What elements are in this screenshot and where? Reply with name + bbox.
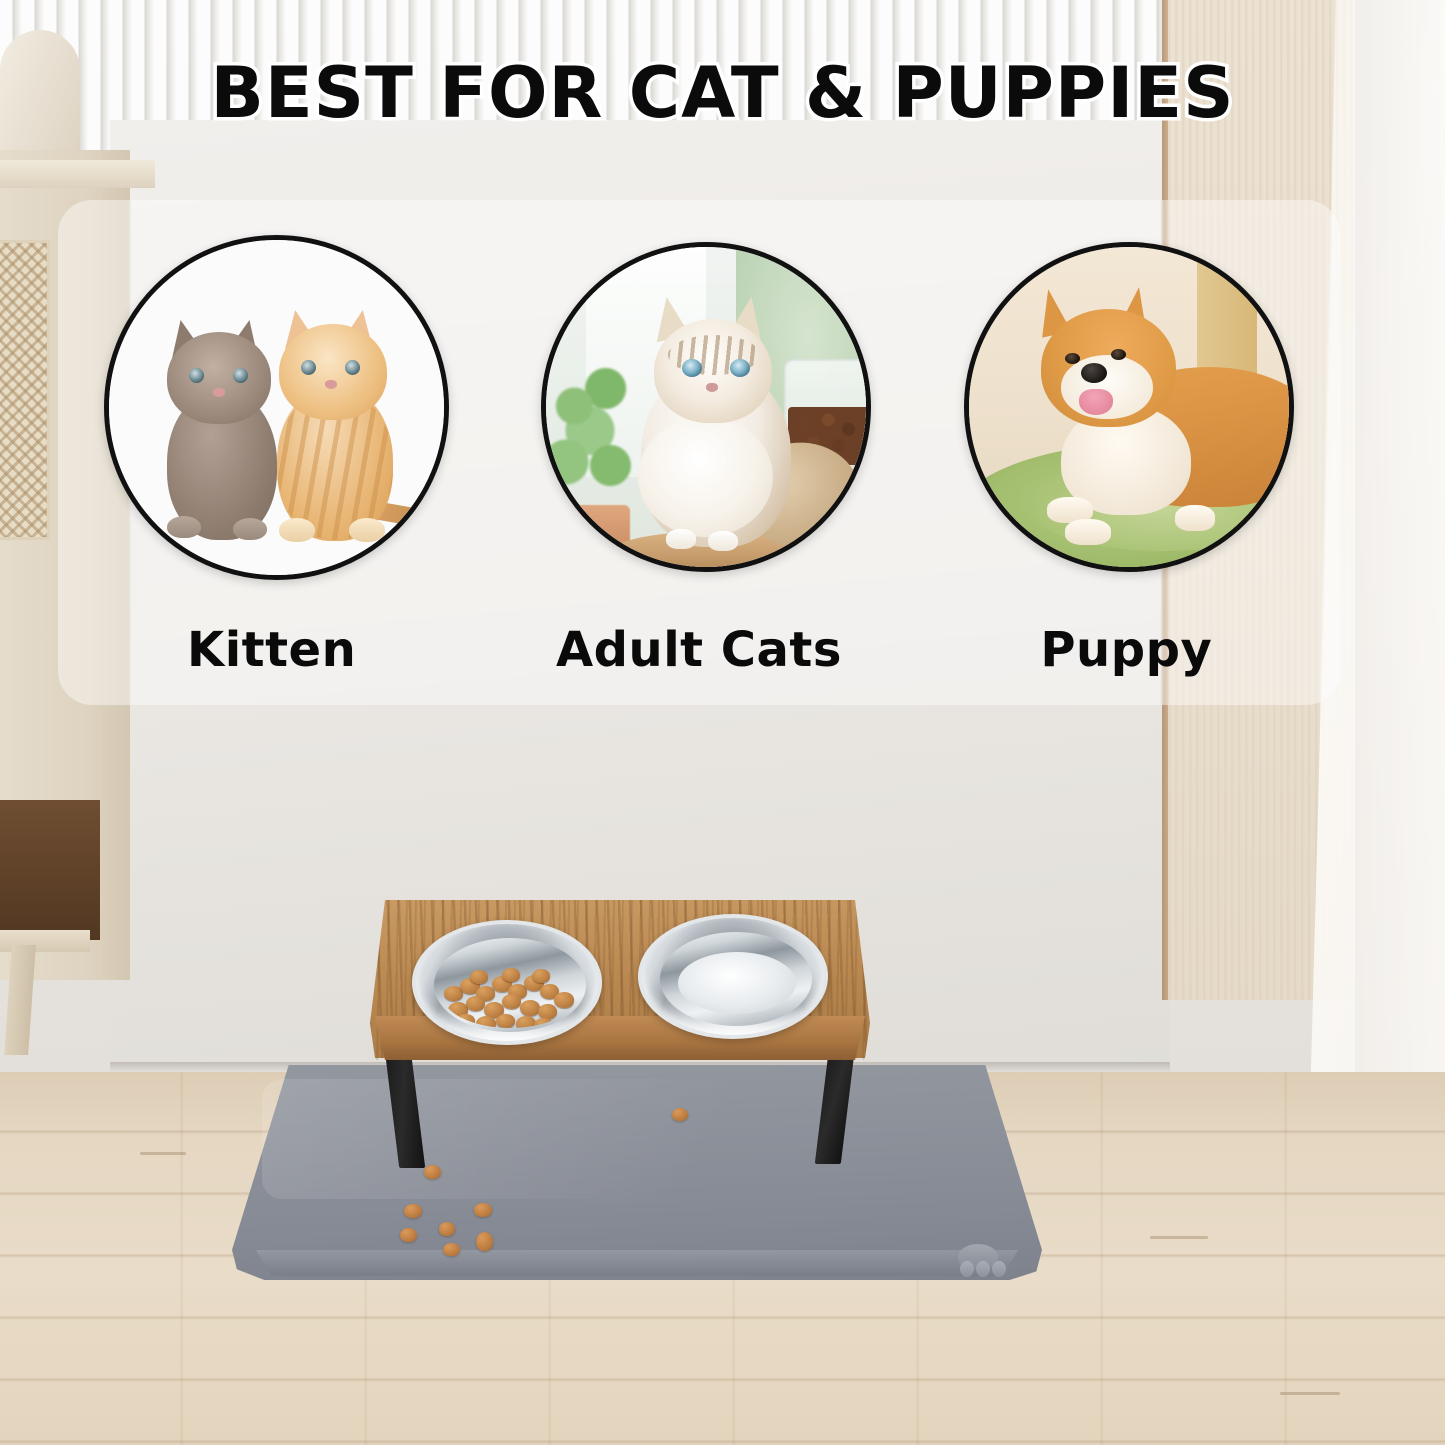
paw-toe-2: [976, 1261, 990, 1277]
spilled-kibble: [476, 1232, 493, 1251]
feeder-leg-right: [815, 1046, 855, 1164]
mat-raised-lip: [240, 1250, 1034, 1276]
feeder-leg-left: [385, 1050, 425, 1168]
spilled-kibble: [424, 1165, 441, 1179]
spilled-kibble: [443, 1243, 460, 1256]
bowl-right-base: [678, 952, 796, 1014]
product-photo: [0, 0, 1445, 1445]
spilled-kibble: [400, 1228, 417, 1242]
spilled-kibble: [439, 1222, 455, 1236]
food-bowl-left: [412, 920, 602, 1045]
spilled-kibble: [474, 1203, 492, 1217]
spilled-kibble: [404, 1204, 422, 1218]
kibble-pile: [442, 960, 578, 1028]
product-marketing-image: BEST FOR CAT & PUPPIES: [0, 0, 1445, 1445]
paw-print-icon: [954, 1240, 1020, 1274]
water-bowl-right: [638, 914, 828, 1039]
elevated-feeder-stand: [370, 900, 870, 1160]
paw-toe-3: [992, 1261, 1006, 1277]
paw-toe-1: [960, 1261, 974, 1277]
